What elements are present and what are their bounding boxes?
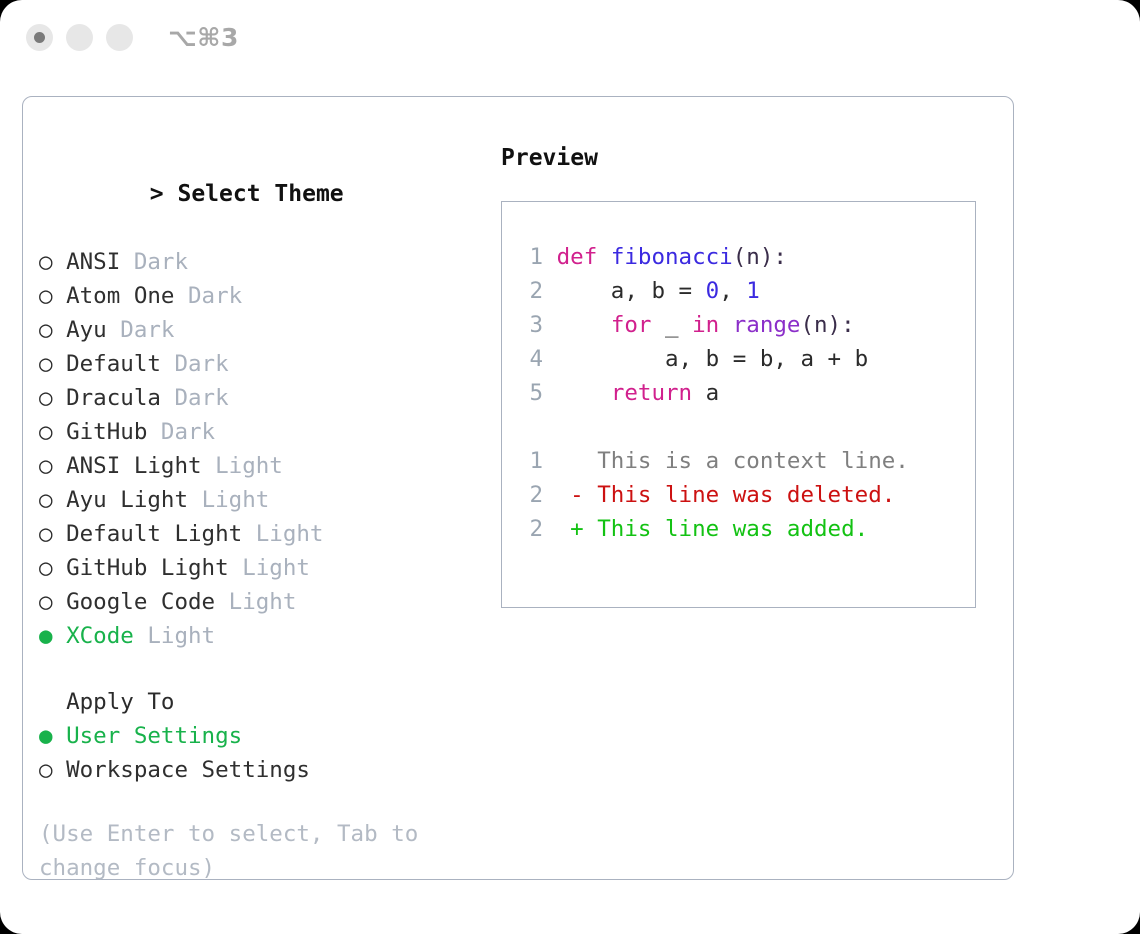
theme-option-label: Ayu: [66, 317, 107, 343]
theme-option-label: GitHub Light: [66, 555, 229, 581]
spacer: [107, 317, 121, 343]
theme-option-xcode[interactable]: ● XCode Light: [39, 619, 469, 653]
diff-line-number: 1: [516, 444, 543, 478]
code-token: _: [651, 312, 692, 338]
radio-unselected-icon: ○: [39, 757, 66, 783]
code-token: in: [692, 312, 719, 338]
theme-option-github-light[interactable]: ○ GitHub Light Light: [39, 551, 469, 585]
spacer: [215, 589, 229, 615]
theme-option-default[interactable]: ○ Default Dark: [39, 347, 469, 381]
theme-option-kind: Light: [202, 487, 270, 513]
code-token: (n):: [733, 244, 787, 270]
code-token: return: [611, 380, 692, 406]
theme-option-ayu-light[interactable]: ○ Ayu Light Light: [39, 483, 469, 517]
select-theme-title: Select Theme: [177, 181, 343, 207]
spacer: [188, 487, 202, 513]
code-line-number: 1: [516, 240, 543, 274]
theme-option-label: ANSI Light: [66, 453, 201, 479]
diff-text: This line was added.: [597, 516, 868, 542]
theme-option-kind: Light: [147, 623, 215, 649]
traffic-light-record-icon[interactable]: [26, 24, 53, 51]
code-line-number: 2: [516, 274, 543, 308]
theme-option-ayu[interactable]: ○ Ayu Dark: [39, 313, 469, 347]
radio-unselected-icon: ○: [39, 317, 66, 343]
code-token: ,: [719, 278, 746, 304]
radio-unselected-icon: ○: [39, 555, 66, 581]
keyboard-shortcut-label: ⌥⌘3: [168, 23, 239, 53]
code-token: fibonacci: [611, 244, 733, 270]
gutter-spacer: [543, 244, 557, 270]
theme-option-kind: Light: [215, 453, 283, 479]
theme-option-atom-one[interactable]: ○ Atom One Dark: [39, 279, 469, 313]
keyboard-hint-text: (Use Enter to select, Tab to change focu…: [39, 817, 449, 885]
apply-to-option-label: User Settings: [66, 723, 242, 749]
code-token: [719, 312, 733, 338]
spacer: [120, 249, 134, 275]
code-token: [557, 312, 611, 338]
code-line: 1 def fibonacci(n):: [516, 240, 967, 274]
radio-unselected-icon: ○: [39, 419, 66, 445]
theme-option-dracula[interactable]: ○ Dracula Dark: [39, 381, 469, 415]
gutter-spacer: [543, 312, 557, 338]
apply-to-option-label: Workspace Settings: [66, 757, 310, 783]
theme-option-label: Ayu Light: [66, 487, 188, 513]
radio-unselected-icon: ○: [39, 283, 66, 309]
apply-to-option-list: ● User Settings○ Workspace Settings: [39, 719, 469, 787]
theme-option-label: XCode: [66, 623, 134, 649]
spacer: [147, 419, 161, 445]
spacer: [242, 521, 256, 547]
theme-option-kind: Dark: [188, 283, 242, 309]
diff-line: 2 + This line was added.: [516, 512, 967, 546]
theme-option-kind: Dark: [120, 317, 174, 343]
radio-unselected-icon: ○: [39, 487, 66, 513]
theme-list-panel: > Select Theme ○ ANSI Dark○ Atom One Dar…: [39, 143, 469, 885]
radio-unselected-icon: ○: [39, 351, 66, 377]
preview-title: Preview: [501, 143, 991, 173]
theme-option-kind: Dark: [161, 419, 215, 445]
diff-line-number: 2: [516, 512, 543, 546]
apply-to-header: Apply To: [39, 685, 469, 719]
code-token: def: [557, 244, 611, 270]
diff-sign: +: [570, 516, 597, 542]
diff-line: 1 This is a context line.: [516, 444, 967, 478]
spacer: [161, 351, 175, 377]
theme-option-github[interactable]: ○ GitHub Dark: [39, 415, 469, 449]
apply-to-option-user-settings[interactable]: ● User Settings: [39, 719, 469, 753]
theme-option-label: ANSI: [66, 249, 120, 275]
gutter-spacer: [543, 278, 557, 304]
apply-to-section: Apply To ● User Settings○ Workspace Sett…: [39, 685, 469, 787]
spacer: [174, 283, 188, 309]
code-line: 4 a, b = b, a + b: [516, 342, 967, 376]
theme-option-label: Google Code: [66, 589, 215, 615]
code-token: a, b = b, a + b: [557, 346, 869, 372]
code-token: 0: [706, 278, 720, 304]
radio-unselected-icon: ○: [39, 453, 66, 479]
spacer: [161, 385, 175, 411]
theme-option-label: Default: [66, 351, 161, 377]
diff-line: 2 - This line was deleted.: [516, 478, 967, 512]
diff-text: This is a context line.: [597, 448, 909, 474]
radio-unselected-icon: ○: [39, 589, 66, 615]
select-theme-caret: >: [150, 181, 178, 207]
code-token: a: [692, 380, 719, 406]
radio-unselected-icon: ○: [39, 249, 66, 275]
theme-picker-dialog: > Select Theme ○ ANSI Dark○ Atom One Dar…: [22, 96, 1014, 880]
diff-line-number: 2: [516, 478, 543, 512]
preview-box: 1 def fibonacci(n):2 a, b = 0, 13 for _ …: [501, 201, 976, 608]
gutter-spacer: [543, 516, 570, 542]
theme-option-kind: Light: [256, 521, 324, 547]
code-token: [557, 380, 611, 406]
radio-selected-icon: ●: [39, 723, 66, 749]
theme-option-default-light[interactable]: ○ Default Light Light: [39, 517, 469, 551]
theme-option-ansi-light[interactable]: ○ ANSI Light Light: [39, 449, 469, 483]
theme-option-label: Dracula: [66, 385, 161, 411]
spacer: [229, 555, 243, 581]
theme-option-label: Atom One: [66, 283, 174, 309]
spacer: [134, 623, 148, 649]
theme-option-ansi[interactable]: ○ ANSI Dark: [39, 245, 469, 279]
theme-option-label: GitHub: [66, 419, 147, 445]
preview-panel: Preview 1 def fibonacci(n):2 a, b = 0, 1…: [501, 143, 991, 608]
diff-sign: -: [570, 482, 597, 508]
gutter-spacer: [543, 448, 570, 474]
radio-selected-icon: ●: [39, 623, 66, 649]
diff-text: This line was deleted.: [597, 482, 895, 508]
code-sample-area: 1 def fibonacci(n):2 a, b = 0, 13 for _ …: [516, 240, 967, 546]
window-titlebar: ⌥⌘3: [0, 0, 1140, 78]
theme-option-kind: Light: [242, 555, 310, 581]
theme-option-kind: Light: [229, 589, 297, 615]
theme-option-kind: Dark: [134, 249, 188, 275]
theme-option-kind: Dark: [174, 385, 228, 411]
gutter-spacer: [543, 346, 557, 372]
code-token: a, b =: [557, 278, 706, 304]
spacer: [202, 453, 216, 479]
theme-option-list: ○ ANSI Dark○ Atom One Dark○ Ayu Dark○ De…: [39, 245, 469, 653]
apply-to-option-workspace-settings[interactable]: ○ Workspace Settings: [39, 753, 469, 787]
traffic-light-minimize-icon[interactable]: [66, 24, 93, 51]
radio-unselected-icon: ○: [39, 521, 66, 547]
code-line: 2 a, b = 0, 1: [516, 274, 967, 308]
theme-option-label: Default Light: [66, 521, 242, 547]
diff-sign: [570, 448, 597, 474]
code-token: for: [611, 312, 652, 338]
code-line-number: 4: [516, 342, 543, 376]
select-theme-header: > Select Theme: [39, 143, 469, 245]
code-line: 5 return a: [516, 376, 967, 410]
gutter-spacer: [543, 482, 570, 508]
code-line-number: 5: [516, 376, 543, 410]
code-line-number: 3: [516, 308, 543, 342]
code-token: range: [733, 312, 801, 338]
theme-option-google-code[interactable]: ○ Google Code Light: [39, 585, 469, 619]
radio-unselected-icon: ○: [39, 385, 66, 411]
code-diff-separator: [516, 410, 967, 444]
code-line: 3 for _ in range(n):: [516, 308, 967, 342]
gutter-spacer: [543, 380, 557, 406]
theme-option-kind: Dark: [174, 351, 228, 377]
app-window: ⌥⌘3 > Select Theme ○ ANSI Dark○ Atom One…: [0, 0, 1140, 934]
code-token: 1: [746, 278, 760, 304]
traffic-light-maximize-icon[interactable]: [106, 24, 133, 51]
code-token: (n):: [800, 312, 854, 338]
